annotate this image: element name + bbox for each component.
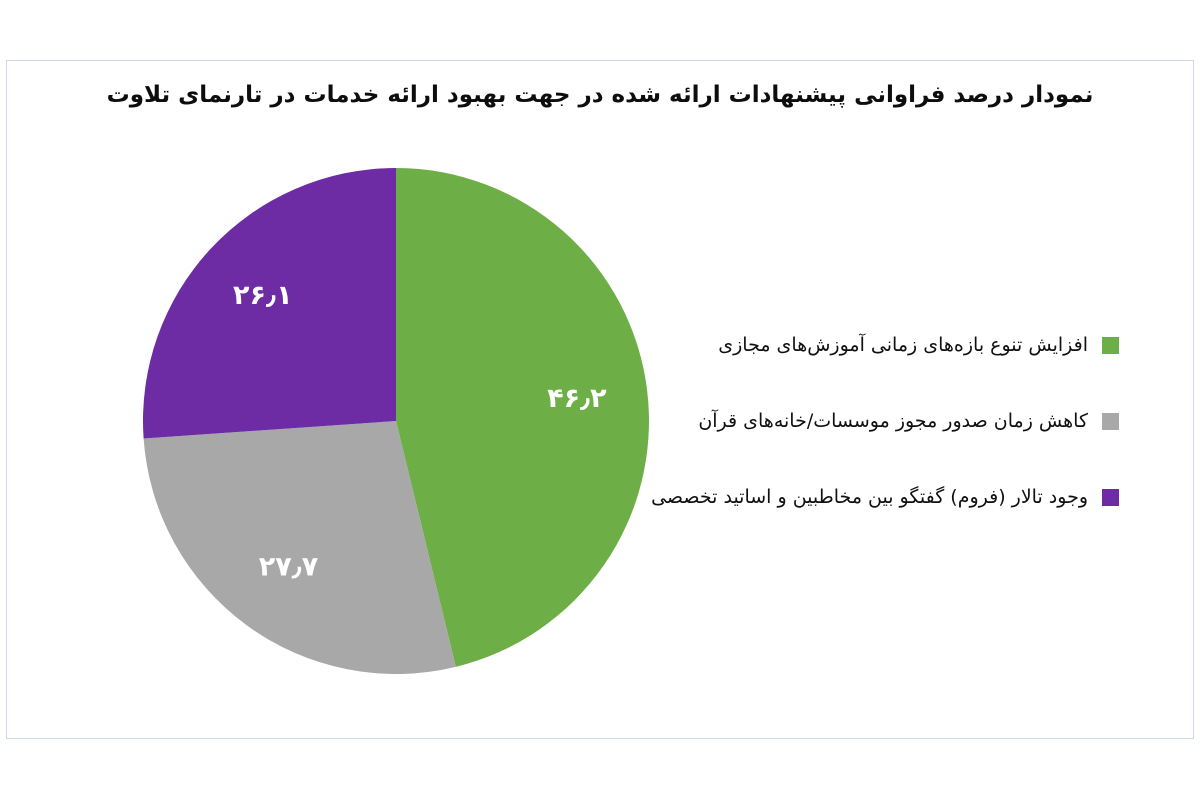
pie-slice-value-2: ۲۶٫۱ [233, 280, 293, 311]
pie-slice-value-1: ۲۷٫۷ [259, 552, 319, 583]
legend-label-1: کاهش زمان صدور مجوز موسسات/خانه‌های قرآن [698, 410, 1088, 433]
plot-area: ۴۶٫۲۲۷٫۷۲۶٫۱ افزایش تنوع بازه‌های زمانی … [7, 61, 1195, 740]
legend-item-2[interactable]: وجود تالار (فروم) گفتگو بین مخاطبین و اس… [689, 485, 1119, 509]
legend-item-1[interactable]: کاهش زمان صدور مجوز موسسات/خانه‌های قرآن [689, 409, 1119, 433]
legend-swatch-green [1102, 337, 1119, 354]
legend-swatch-purple [1102, 489, 1119, 506]
pie-slice-group [143, 168, 649, 674]
legend-label-2: وجود تالار (فروم) گفتگو بین مخاطبین و اس… [651, 486, 1088, 509]
legend-label-0: افزایش تنوع بازه‌های زمانی آموزش‌های مجا… [718, 334, 1088, 357]
pie-chart: ۴۶٫۲۲۷٫۷۲۶٫۱ [141, 166, 651, 676]
legend-item-0[interactable]: افزایش تنوع بازه‌های زمانی آموزش‌های مجا… [689, 333, 1119, 357]
chart-frame: نمودار درصد فراوانی پیشنهادات ارائه شده … [6, 60, 1194, 739]
legend-swatch-grey [1102, 413, 1119, 430]
pie-slice-value-0: ۴۶٫۲ [547, 383, 607, 414]
chart-legend: افزایش تنوع بازه‌های زمانی آموزش‌های مجا… [689, 333, 1119, 509]
